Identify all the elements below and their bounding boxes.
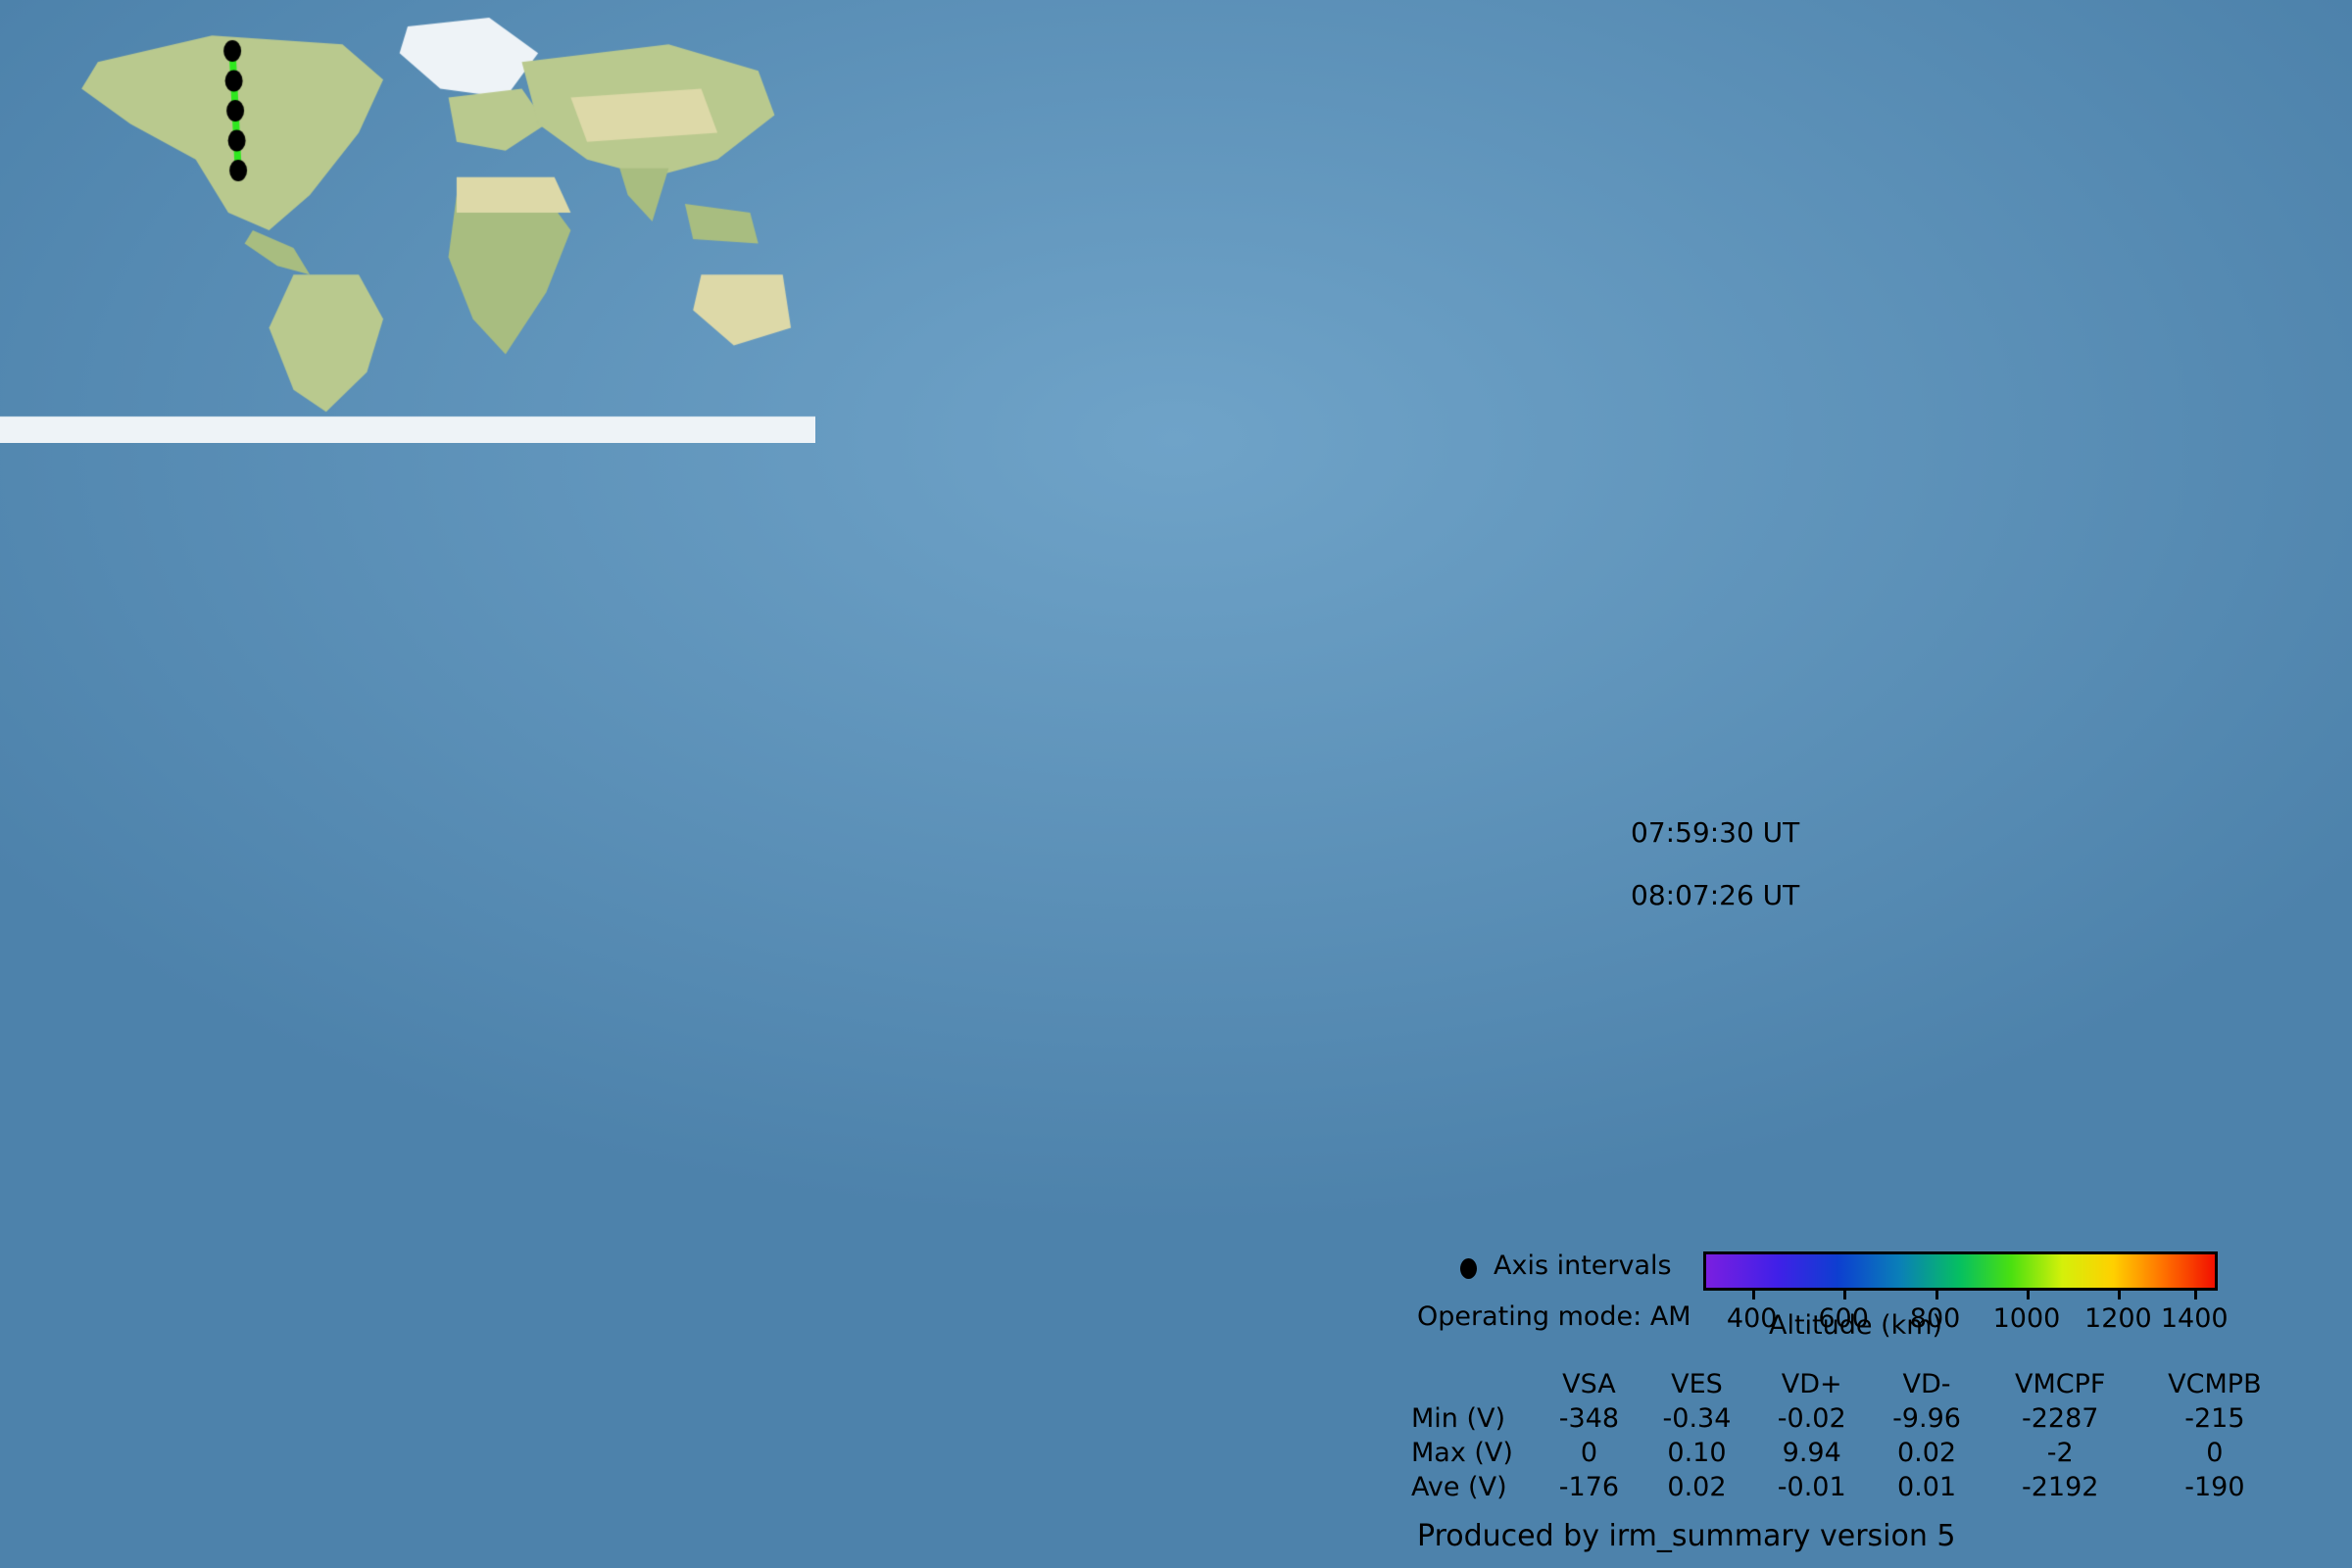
volt-row-ave: Ave (V) <box>1411 1470 1539 1504</box>
alt-tick-1200: 1200 <box>2084 1303 2152 1334</box>
alt-tick-1000: 1000 <box>1993 1303 2061 1334</box>
altitude-colorbar: 400 600 800 1000 1200 1400 <box>1703 1251 2218 1291</box>
table-row: Ave (V) -176 0.02 -0.01 0.01 -2192 -190 <box>1411 1470 2293 1504</box>
volt-col-vsa: VSA <box>1539 1367 1640 1401</box>
volt-row-min: Min (V) <box>1411 1401 1539 1436</box>
map-start-label: 07:59:30 UT <box>1631 816 1799 849</box>
table-header-row: VSA VES VD+ VD- VMCPF VCMPB <box>1411 1367 2293 1401</box>
volt-max-2: 9.94 <box>1754 1436 1869 1470</box>
volt-min-5: -215 <box>2136 1401 2293 1436</box>
volt-ave-4: -2192 <box>1984 1470 2136 1504</box>
table-row: Min (V) -348 -0.34 -0.02 -9.96 -2287 -21… <box>1411 1401 2293 1436</box>
axis-interval-dot-icon <box>1460 1258 1477 1279</box>
volt-ave-3: 0.01 <box>1869 1470 1984 1504</box>
volt-ave-5: -190 <box>2136 1470 2293 1504</box>
volt-min-1: -0.34 <box>1640 1401 1754 1436</box>
volt-min-4: -2287 <box>1984 1401 2136 1436</box>
axis-intervals-label: Axis intervals <box>1494 1250 1672 1281</box>
volt-col-ves: VES <box>1640 1367 1754 1401</box>
map-end-label: 08:07:26 UT <box>1631 879 1799 911</box>
volt-min-2: -0.02 <box>1754 1401 1869 1436</box>
operating-mode-label: Operating mode: AM <box>1417 1301 1691 1332</box>
volt-max-5: 0 <box>2136 1436 2293 1470</box>
volt-max-0: 0 <box>1539 1436 1640 1470</box>
volt-col-vdm: VD- <box>1869 1367 1984 1401</box>
volt-max-4: -2 <box>1984 1436 2136 1470</box>
volt-col-vcmpb: VCMPB <box>2136 1367 2293 1401</box>
volt-row-max: Max (V) <box>1411 1436 1539 1470</box>
volt-max-3: 0.02 <box>1869 1436 1984 1470</box>
alt-tick-400: 400 <box>1727 1303 1778 1334</box>
volt-ave-1: 0.02 <box>1640 1470 1754 1504</box>
alt-tick-1400: 1400 <box>2161 1303 2229 1334</box>
volt-ave-0: -176 <box>1539 1470 1640 1504</box>
volt-min-0: -348 <box>1539 1401 1640 1436</box>
alt-tick-600: 600 <box>1818 1303 1869 1334</box>
volt-ave-2: -0.01 <box>1754 1470 1869 1504</box>
volt-max-1: 0.10 <box>1640 1436 1754 1470</box>
voltage-summary-table: VSA VES VD+ VD- VMCPF VCMPB Min (V) -348… <box>1411 1367 2293 1504</box>
footer-produced-by: Produced by irm_summary version 5 <box>1417 1519 1955 1553</box>
table-row: Max (V) 0 0.10 9.94 0.02 -2 0 <box>1411 1436 2293 1470</box>
world-map <box>0 0 823 451</box>
alt-tick-800: 800 <box>1910 1303 1961 1334</box>
volt-col-vdp: VD+ <box>1754 1367 1869 1401</box>
volt-min-3: -9.96 <box>1869 1401 1984 1436</box>
volt-col-vmcpf: VMCPF <box>1984 1367 2136 1401</box>
